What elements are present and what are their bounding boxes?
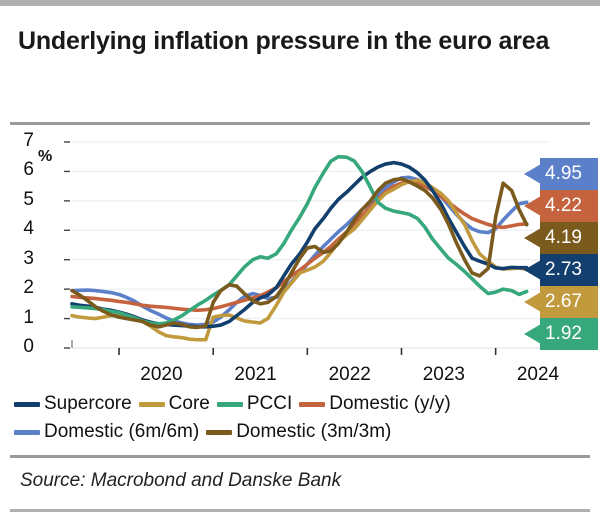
end-value-label: 4.22 (540, 190, 598, 222)
legend-item[interactable]: Core (139, 393, 210, 415)
y-tick-label: 6 (8, 159, 34, 181)
legend-swatch-icon (14, 402, 40, 407)
legend-item[interactable]: Supercore (14, 393, 132, 415)
legend-swatch-icon (217, 402, 243, 407)
y-tick-label: 4 (8, 218, 34, 240)
end-label-pointer (524, 164, 541, 184)
x-tick-label: 2024 (517, 364, 559, 386)
legend-swatch-icon (206, 430, 232, 435)
end-label-pointer (524, 228, 541, 248)
end-value-text: 4.95 (545, 163, 582, 185)
chart-card: Underlying inflation pressure in the eur… (0, 0, 600, 524)
end-value-label: 4.95 (540, 158, 598, 190)
end-label-pointer (524, 196, 541, 216)
end-value-text: 1.92 (545, 323, 582, 345)
legend-swatch-icon (139, 402, 165, 407)
legend-label: Supercore (44, 393, 132, 415)
legend-swatch-icon (299, 402, 325, 407)
legend-swatch-icon (14, 430, 40, 435)
end-value-text: 4.19 (545, 227, 582, 249)
end-value-label: 2.73 (540, 254, 598, 286)
end-label-pointer (524, 292, 541, 312)
end-value-text: 2.73 (545, 259, 582, 281)
line-chart (0, 128, 600, 360)
y-tick-label: 3 (8, 248, 34, 270)
legend-item[interactable]: PCCI (217, 393, 292, 415)
chart-legend: SupercoreCorePCCIDomestic (y/y) Domestic… (14, 390, 584, 446)
page-title: Underlying inflation pressure in the eur… (18, 26, 563, 58)
y-tick-label: 1 (8, 307, 34, 329)
source-divider (10, 455, 590, 458)
end-value-label: 4.19 (540, 222, 598, 254)
legend-label: Domestic (y/y) (329, 393, 450, 415)
legend-item[interactable]: Domestic (6m/6m) (14, 421, 199, 443)
x-tick-label: 2021 (234, 364, 276, 386)
end-label-pointer (524, 260, 541, 280)
y-tick-label: 0 (8, 336, 34, 358)
y-tick-label: 2 (8, 277, 34, 299)
x-tick-label: 2022 (329, 364, 371, 386)
x-tick-label: 2023 (423, 364, 465, 386)
plot-area: 01234567 20202021202220232024 % (0, 128, 600, 360)
x-tick-label: 2020 (140, 364, 182, 386)
legend-row: SupercoreCorePCCIDomestic (y/y) (14, 390, 584, 418)
legend-label: PCCI (247, 393, 292, 415)
y-tick-label: 5 (8, 189, 34, 211)
legend-label: Core (169, 393, 210, 415)
legend-row: Domestic (6m/6m)Domestic (3m/3m) (14, 418, 584, 446)
bottom-rule (10, 509, 590, 512)
y-tick-label: 7 (8, 130, 34, 152)
legend-label: Domestic (3m/3m) (236, 421, 391, 443)
y-axis-label: % (38, 148, 52, 166)
title-divider (10, 122, 590, 125)
legend-label: Domestic (6m/6m) (44, 421, 199, 443)
end-value-text: 2.67 (545, 291, 582, 313)
source-text: Source: Macrobond and Danske Bank (20, 470, 341, 492)
end-label-pointer (524, 324, 541, 344)
legend-item[interactable]: Domestic (3m/3m) (206, 421, 391, 443)
end-value-label: 2.67 (540, 286, 598, 318)
top-rule (0, 0, 600, 6)
end-value-text: 4.22 (545, 195, 582, 217)
legend-item[interactable]: Domestic (y/y) (299, 393, 450, 415)
end-value-label: 1.92 (540, 318, 598, 350)
